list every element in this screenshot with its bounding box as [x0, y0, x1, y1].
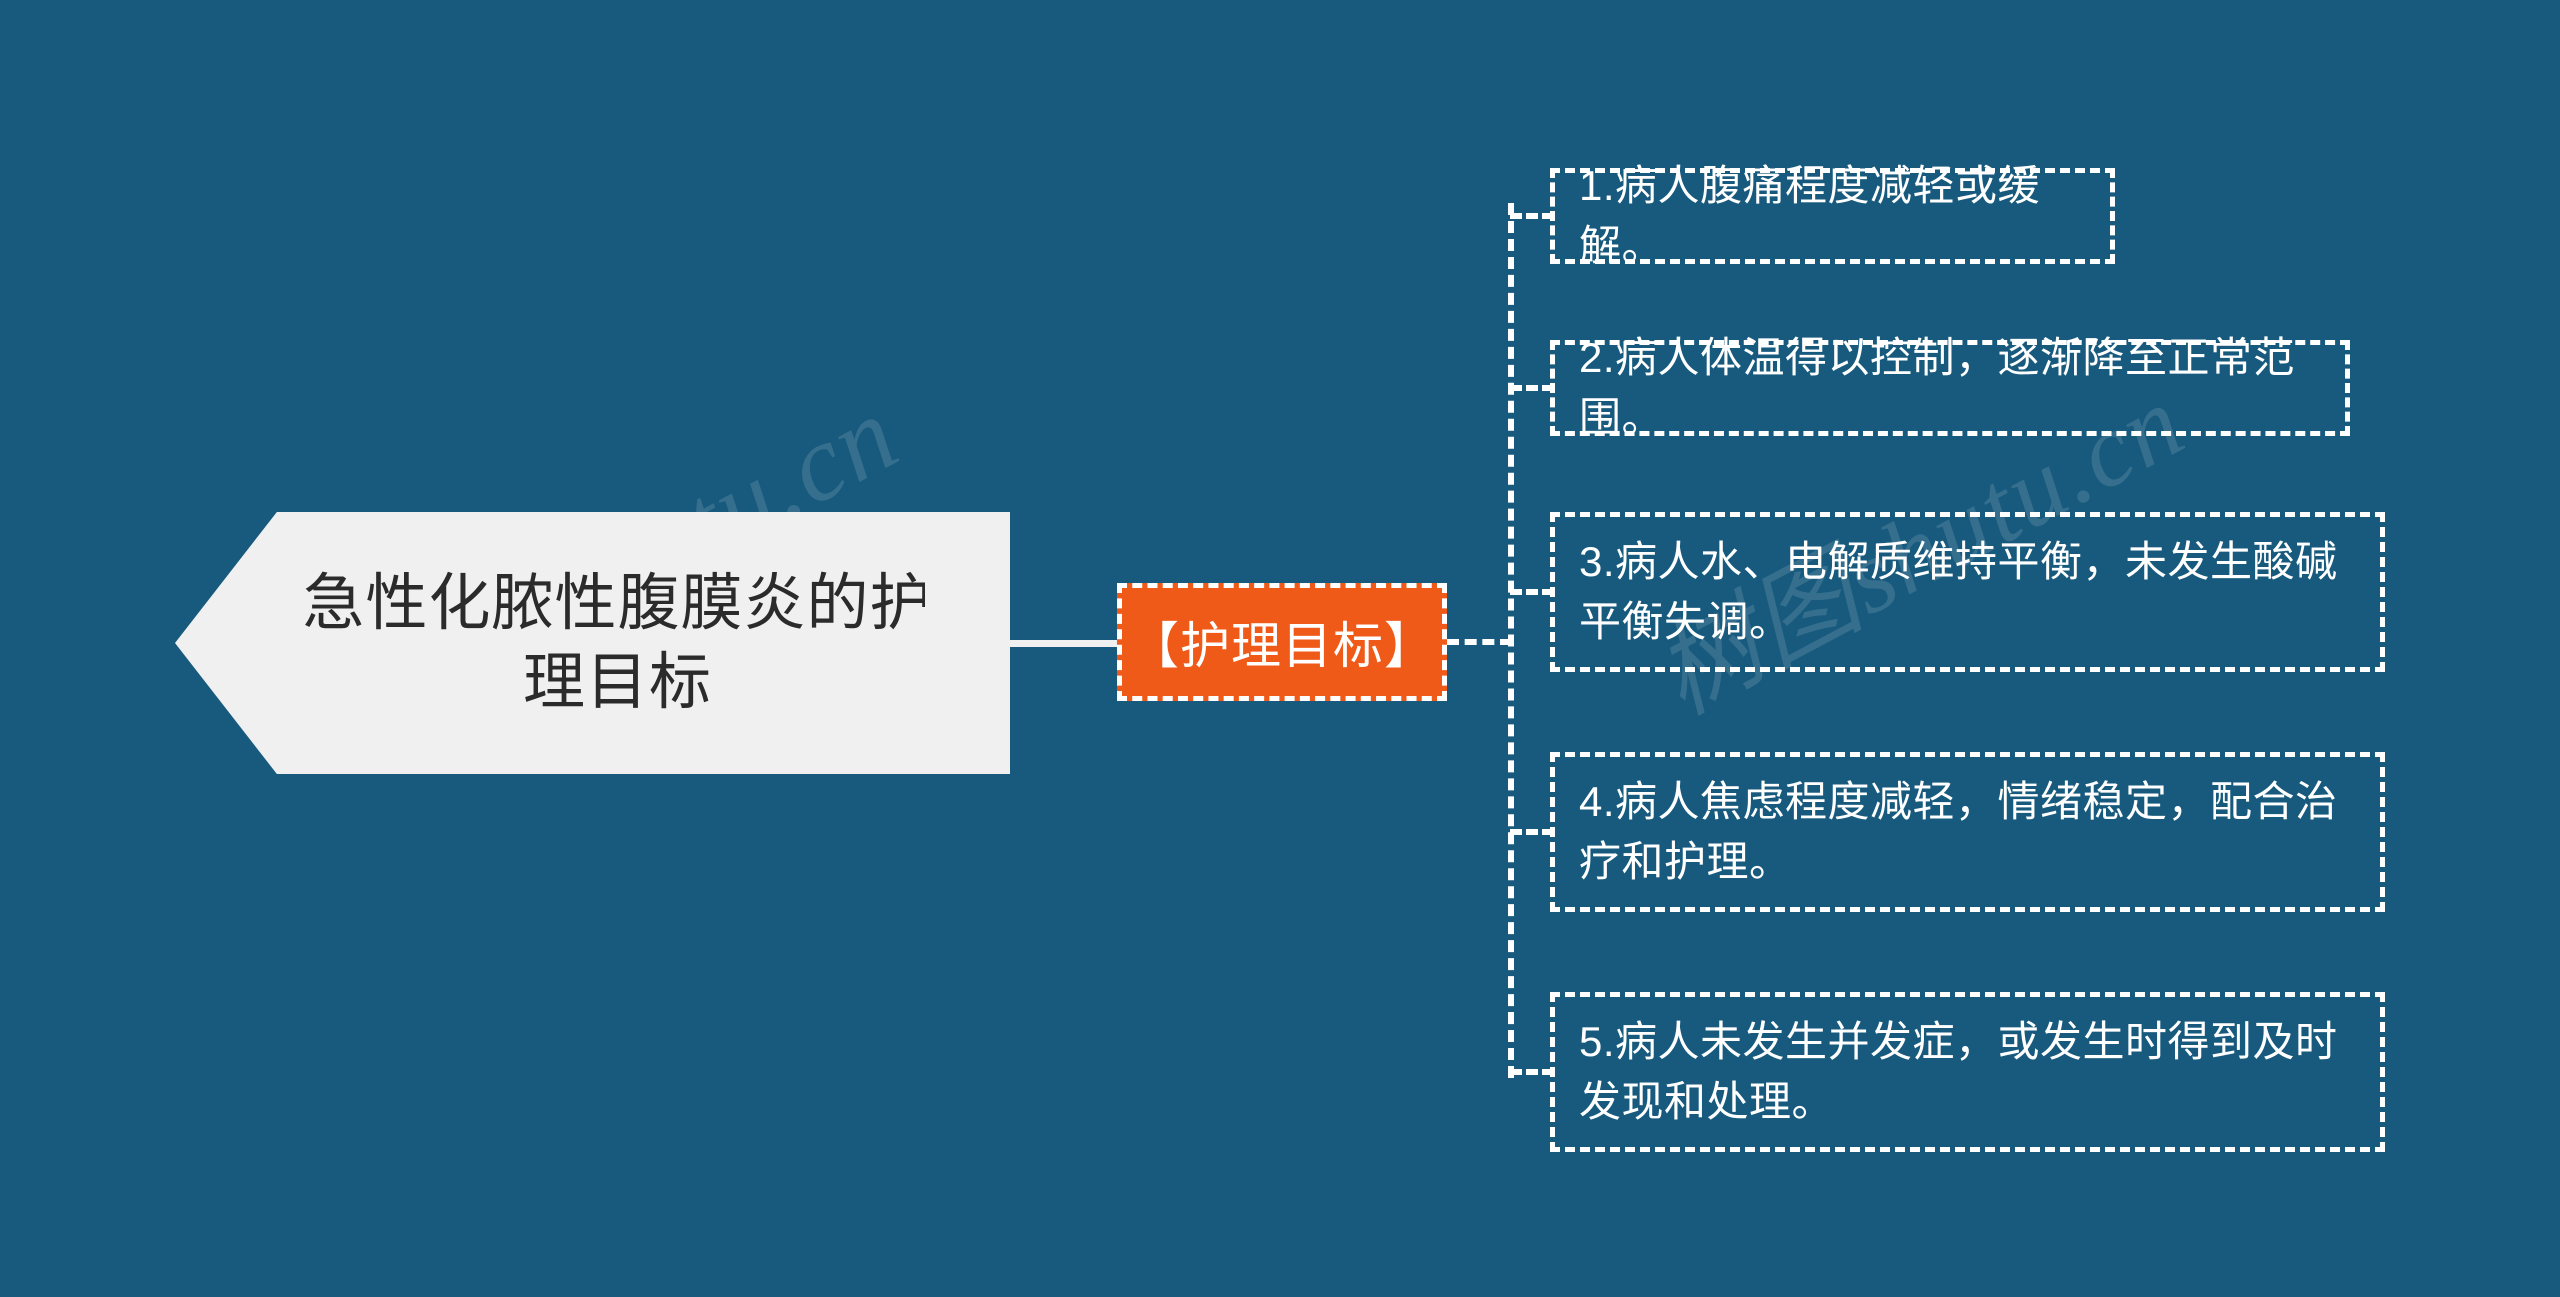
branch-item-1[interactable]: 1.病人腹痛程度减轻或缓解。: [1550, 168, 2115, 264]
root-node-label: 急性化脓性腹膜炎的护理目标: [285, 564, 950, 723]
mindmap-canvas: 树图shutu.cn 树图shutu.cn 急性化脓性腹膜炎的护理目标 【护理目…: [0, 0, 2560, 1297]
connector-stub-4: [1510, 829, 1554, 835]
branch-item-3-label: 3.病人水、电解质维持平衡，未发生酸碱平衡失调。: [1579, 532, 2354, 651]
branch-item-3[interactable]: 3.病人水、电解质维持平衡，未发生酸碱平衡失调。: [1550, 512, 2385, 672]
connector-center-to-trunk: [1447, 639, 1512, 645]
connector-stub-5: [1510, 1069, 1554, 1075]
connector-trunk-vertical: [1508, 203, 1514, 1078]
branch-item-5-label: 5.病人未发生并发症，或发生时得到及时发现和处理。: [1579, 1012, 2354, 1131]
center-node-nursing-goals[interactable]: 【护理目标】: [1117, 583, 1447, 701]
branch-item-2-label: 2.病人体温得以控制，逐渐降至正常范围。: [1579, 328, 2319, 447]
branch-item-4-label: 4.病人焦虑程度减轻，情绪稳定，配合治疗和护理。: [1579, 772, 2354, 891]
branch-item-2[interactable]: 2.病人体温得以控制，逐渐降至正常范围。: [1550, 340, 2350, 436]
center-node-label: 【护理目标】: [1129, 606, 1435, 678]
branch-item-1-label: 1.病人腹痛程度减轻或缓解。: [1579, 156, 2084, 275]
connector-stub-2: [1510, 385, 1554, 391]
branch-item-5[interactable]: 5.病人未发生并发症，或发生时得到及时发现和处理。: [1550, 992, 2385, 1152]
connector-stub-3: [1510, 589, 1554, 595]
connector-root-to-center: [1006, 640, 1118, 647]
root-node[interactable]: 急性化脓性腹膜炎的护理目标: [175, 512, 1010, 774]
branch-item-4[interactable]: 4.病人焦虑程度减轻，情绪稳定，配合治疗和护理。: [1550, 752, 2385, 912]
connector-stub-1: [1510, 213, 1554, 219]
